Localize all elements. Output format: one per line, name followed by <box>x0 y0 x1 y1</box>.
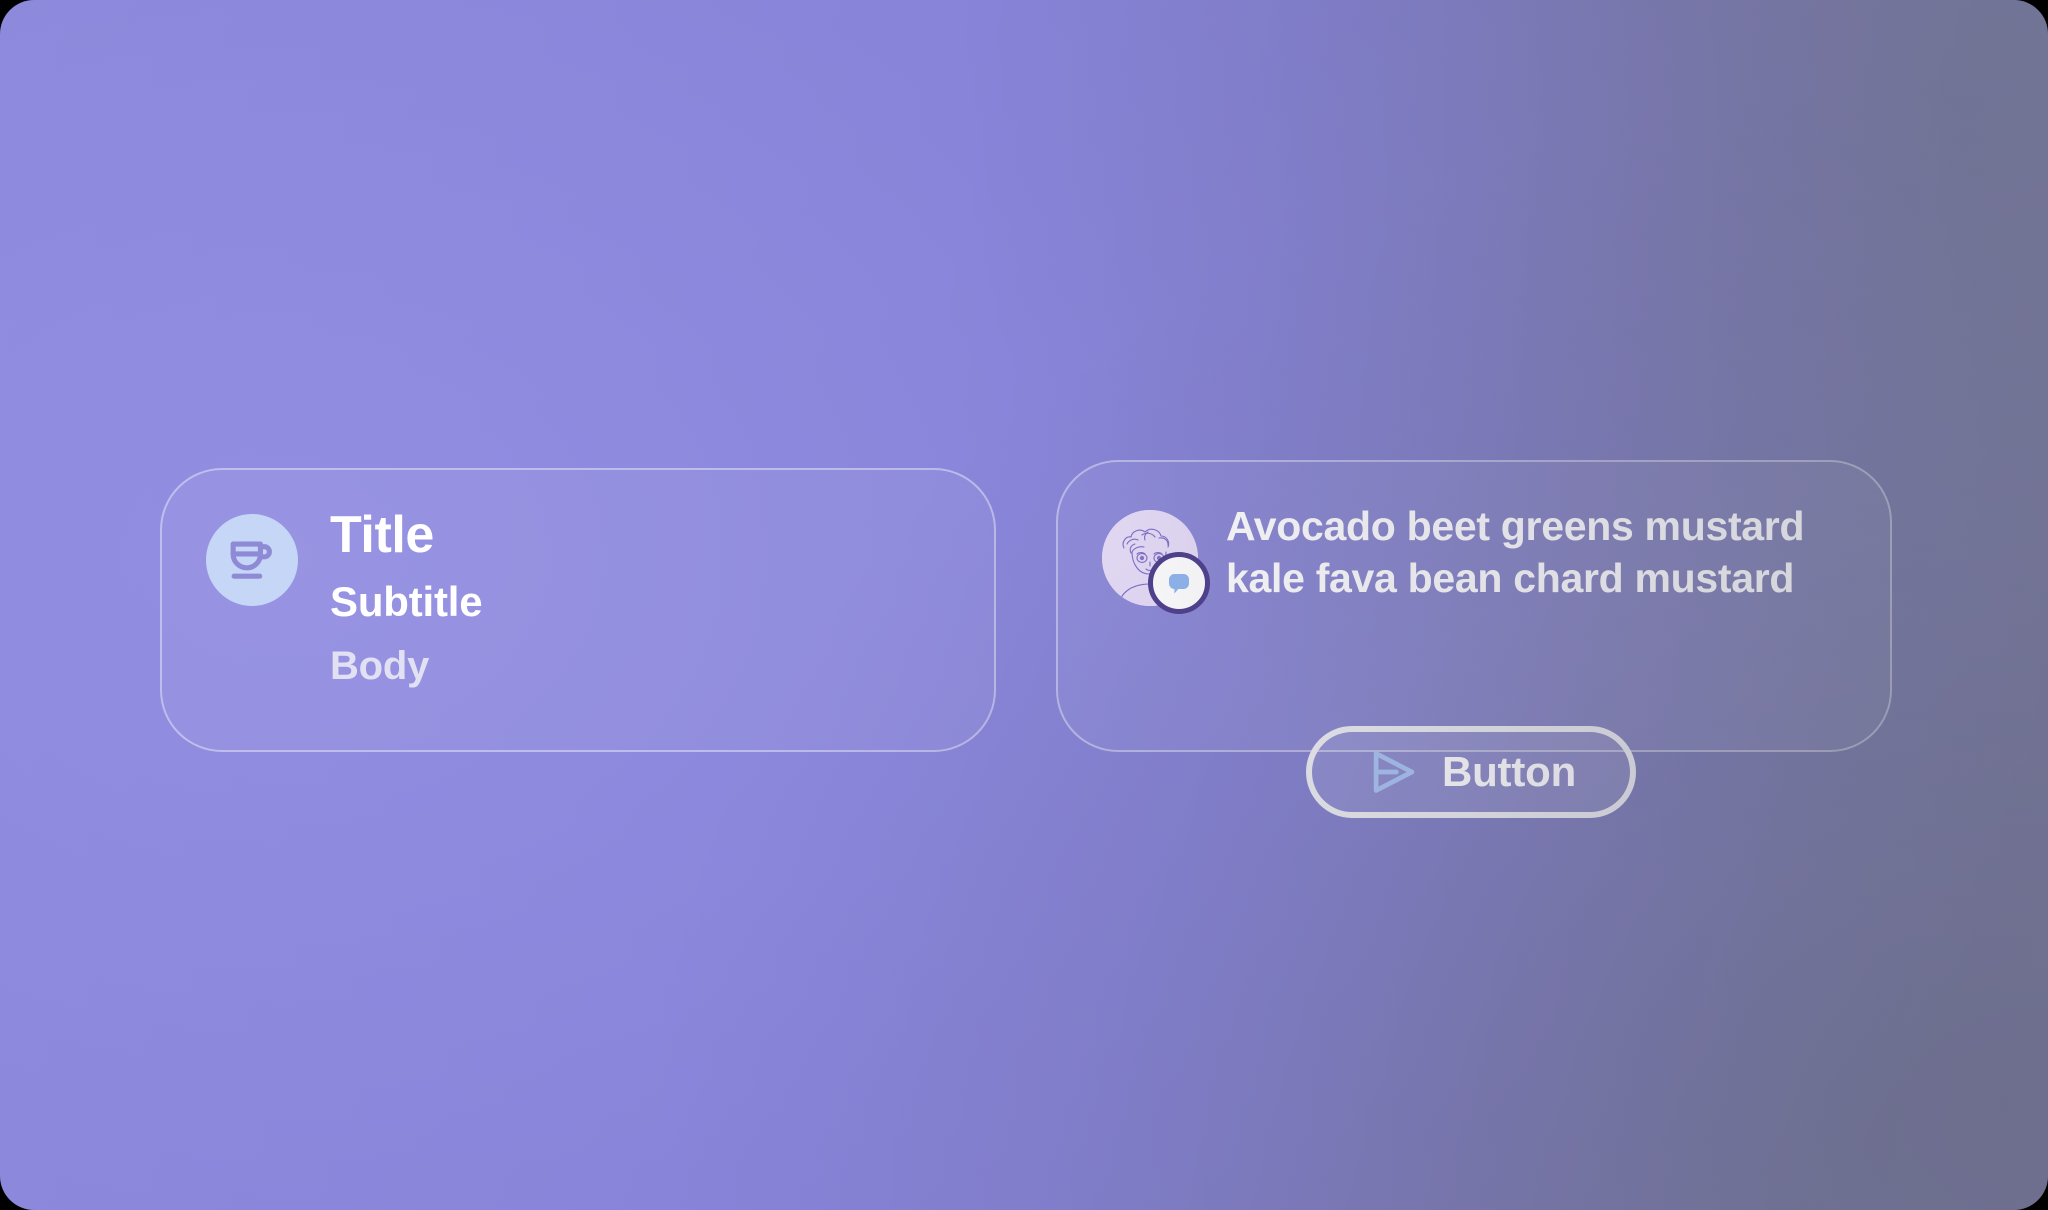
avatar <box>1102 510 1198 606</box>
card-title: Title <box>330 508 482 562</box>
message-card[interactable]: Avocado beet greens mustard kale fava be… <box>1056 460 1892 752</box>
send-button[interactable]: Button <box>1306 726 1636 818</box>
chat-bubble-icon <box>1161 565 1197 601</box>
info-card[interactable]: Title Subtitle Body <box>160 468 996 752</box>
app-canvas: Title Subtitle Body <box>0 0 2048 1210</box>
card-body: Body <box>330 646 482 688</box>
info-card-text-block: Title Subtitle Body <box>330 508 482 687</box>
send-icon <box>1366 745 1420 799</box>
message-text: Avocado beet greens mustard kale fava be… <box>1226 500 1826 605</box>
coffee-cup-icon <box>223 531 281 589</box>
send-button-label: Button <box>1442 751 1576 793</box>
coffee-cup-avatar <box>206 514 298 606</box>
chat-badge <box>1148 552 1210 614</box>
card-subtitle: Subtitle <box>330 580 482 624</box>
